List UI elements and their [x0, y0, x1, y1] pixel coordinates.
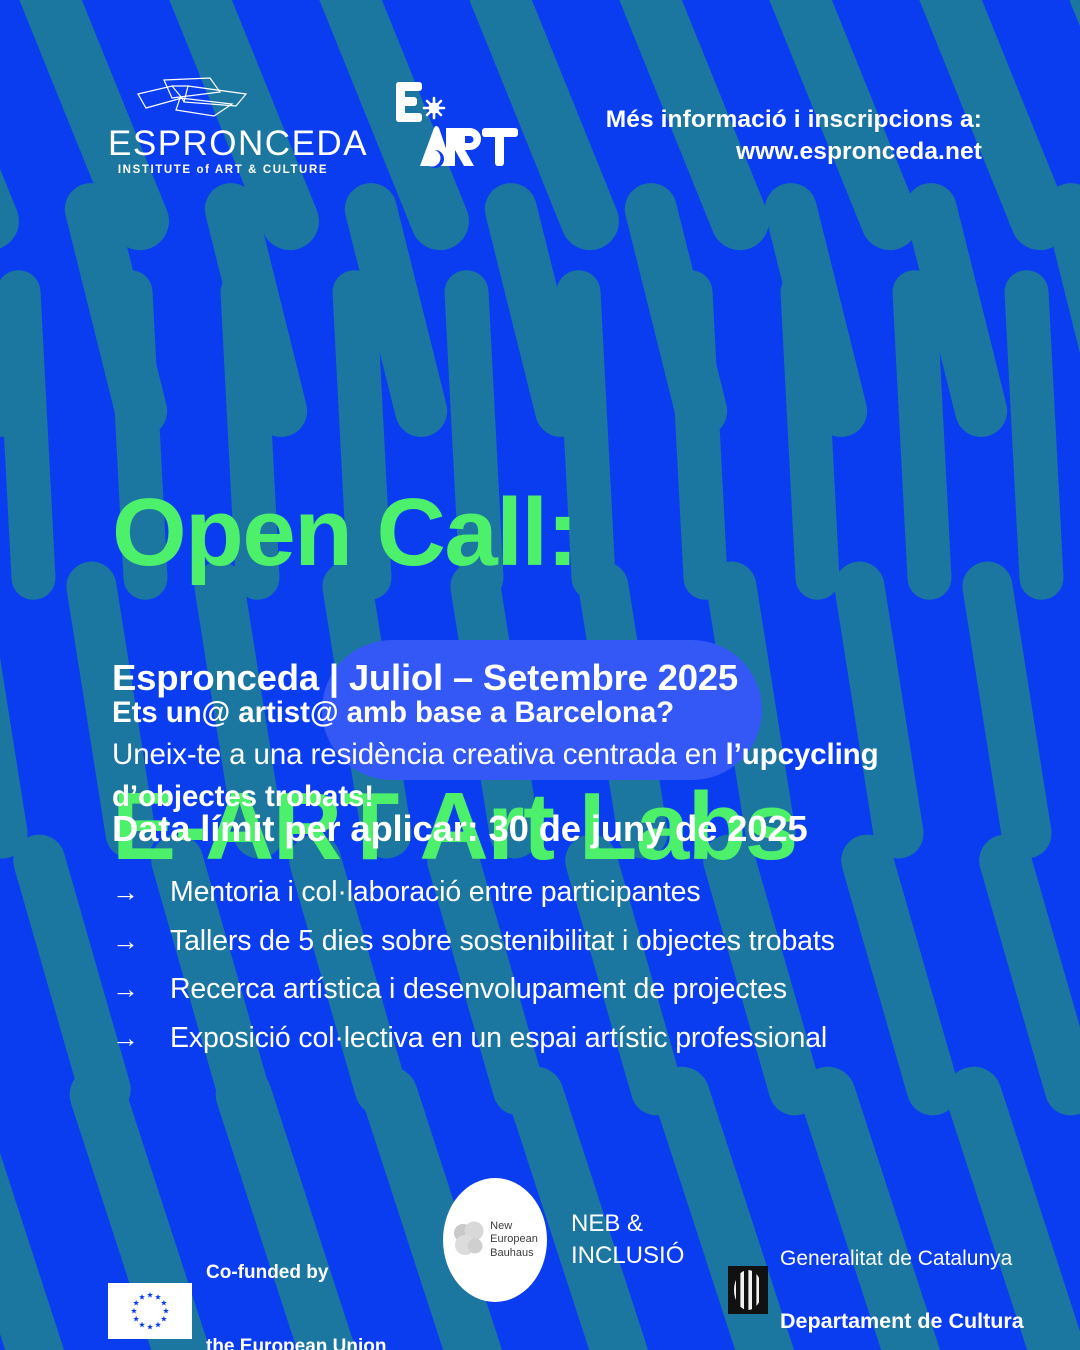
poster-header: ESPRONCEDA INSTITUTE of ART & CULTURE [0, 0, 1080, 200]
eart-logo-icon [390, 78, 520, 170]
benefits-list: → Mentoria i col·laboració entre partici… [112, 876, 992, 1071]
espronceda-wordmark: ESPRONCEDA [108, 126, 338, 161]
eu-funding-logo: Co-funded by the European Union [108, 1212, 387, 1350]
neb-wordmark: New European Bauhaus [490, 1220, 538, 1260]
list-item-label: Tallers de 5 dies sobre sostenibilitat i… [170, 925, 835, 959]
pitch-paragraph: Ets un@ artist@ amb base a Barcelona? Un… [112, 692, 1012, 818]
poster-canvas: ESPRONCEDA INSTITUTE of ART & CULTURE [0, 0, 1080, 1350]
generalitat-text: Generalitat de Catalunya Departament de … [780, 1210, 1024, 1350]
contact-line-1: Més informació i inscripcions a: [606, 104, 982, 136]
pitch-body: Uneix-te a una residència creativa centr… [112, 738, 879, 813]
espronceda-tagline: INSTITUTE of ART & CULTURE [108, 164, 338, 176]
eu-line-2: the European Union [206, 1335, 387, 1350]
generalitat-shield-icon [728, 1266, 768, 1314]
eu-flag-icon [108, 1283, 192, 1339]
neb-blob-shape: New European Bauhaus [443, 1178, 547, 1302]
poster-footer: Co-funded by the European Union New Euro… [0, 1196, 1080, 1306]
neb-flower-icon [452, 1221, 486, 1259]
eu-line-1: Co-funded by [206, 1261, 387, 1286]
generalitat-line-1: Generalitat de Catalunya [780, 1246, 1024, 1272]
pitch-question: Ets un@ artist@ amb base a Barcelona? [112, 692, 1012, 734]
espronceda-logo: ESPRONCEDA INSTITUTE of ART & CULTURE [108, 72, 338, 176]
neb-inclusion-label: NEB & INCLUSIÓ [571, 1208, 684, 1273]
arrow-right-icon: → [112, 1025, 148, 1052]
espronceda-mark-icon [128, 72, 278, 122]
pitch-body-start: Uneix-te a una residència creativa centr… [112, 738, 726, 771]
list-item: → Tallers de 5 dies sobre sostenibilitat… [112, 925, 992, 959]
eu-funding-text: Co-funded by the European Union [206, 1212, 387, 1350]
arrow-right-icon: → [112, 879, 148, 906]
contact-info: Més informació i inscripcions a: www.esp… [606, 104, 982, 169]
generalitat-line-2: Departament de Cultura [780, 1308, 1024, 1334]
contact-url[interactable]: www.espronceda.net [606, 136, 982, 168]
arrow-right-icon: → [112, 928, 148, 955]
new-european-bauhaus-logo: New European Bauhaus NEB & INCLUSIÓ [443, 1178, 684, 1302]
arrow-right-icon: → [112, 976, 148, 1003]
list-item: → Exposició col·lectiva en un espai artí… [112, 1022, 992, 1056]
generalitat-logo: Generalitat de Catalunya Departament de … [728, 1210, 1024, 1350]
list-item: → Recerca artística i desenvolupament de… [112, 973, 992, 1007]
list-item-label: Mentoria i col·laboració entre participa… [170, 876, 700, 910]
list-item: → Mentoria i col·laboració entre partici… [112, 876, 992, 910]
list-item-label: Recerca artística i desenvolupament de p… [170, 973, 787, 1007]
list-item-label: Exposició col·lectiva en un espai artíst… [170, 1022, 827, 1056]
